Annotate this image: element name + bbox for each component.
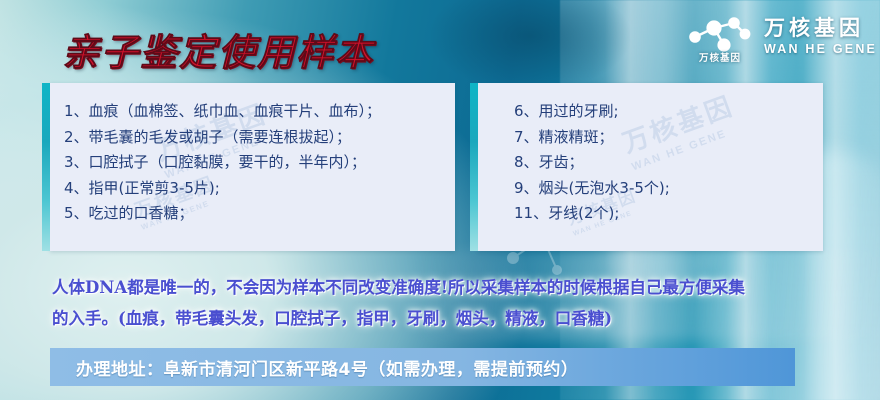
list-item: 11、牙线(2个); <box>514 201 813 227</box>
list-item: 6、用过的牙刷; <box>514 99 813 125</box>
promo-banner: 万核基因 万核基因 WAN HE GENE 亲子鉴定使用样本 1、血痕（血棉签、… <box>0 0 880 400</box>
sample-list-right: 6、用过的牙刷; 7、精液精斑； 8、牙齿； 9、烟头(无泡水3-5个); 11… <box>478 83 823 227</box>
list-item: 4、指甲(正常剪3-5片); <box>64 176 445 202</box>
page-title: 亲子鉴定使用样本 <box>62 22 374 76</box>
address-bar: 办理地址：阜新市清河门区新平路4号（如需办理，需提前预约） <box>50 348 795 386</box>
description-line-2: 的入手。(血痕，带毛囊头发，口腔拭子，指甲，牙刷，烟头，精液，口香糖) <box>52 303 842 334</box>
molecule-icon <box>688 14 752 54</box>
list-item: 9、烟头(无泡水3-5个); <box>514 176 813 202</box>
list-item: 3、口腔拭子（口腔黏膜，要干的，半年内）； <box>64 150 445 176</box>
list-item: 2、带毛囊的毛发或胡子（需要连根拔起）； <box>64 125 445 151</box>
brand-logo: 万核基因 万核基因 WAN HE GENE <box>688 14 877 62</box>
logo-wordmark: 万核基因 WAN HE GENE <box>764 18 877 58</box>
background-vignette <box>430 0 630 90</box>
description-line-1: 人体DNA都是唯一的，不会因为样本不同改变准确度!所以采集样本的时候根据自己最方… <box>52 272 842 303</box>
list-item: 1、血痕（血棉签、纸巾血、血痕干片、血布）； <box>64 99 445 125</box>
logo-name-en: WAN HE GENE <box>764 41 877 58</box>
logo-mark-label: 万核基因 <box>688 50 752 64</box>
list-item: 5、吃过的口香糖； <box>64 201 445 227</box>
logo-mark: 万核基因 <box>688 14 752 62</box>
sample-list-panel-right: 6、用过的牙刷; 7、精液精斑； 8、牙齿； 9、烟头(无泡水3-5个); 11… <box>478 83 823 251</box>
sample-list-panel-left: 1、血痕（血棉签、纸巾血、血痕干片、血布）； 2、带毛囊的毛发或胡子（需要连根拔… <box>50 83 455 251</box>
description-paragraph: 人体DNA都是唯一的，不会因为样本不同改变准确度!所以采集样本的时候根据自己最方… <box>52 272 842 334</box>
address-text: 办理地址：阜新市清河门区新平路4号（如需办理，需提前预约） <box>50 355 578 380</box>
list-item: 7、精液精斑； <box>514 125 813 151</box>
sample-list-left: 1、血痕（血棉签、纸巾血、血痕干片、血布）； 2、带毛囊的毛发或胡子（需要连根拔… <box>50 83 455 227</box>
list-item: 8、牙齿； <box>514 150 813 176</box>
logo-name-cn: 万核基因 <box>764 18 877 41</box>
